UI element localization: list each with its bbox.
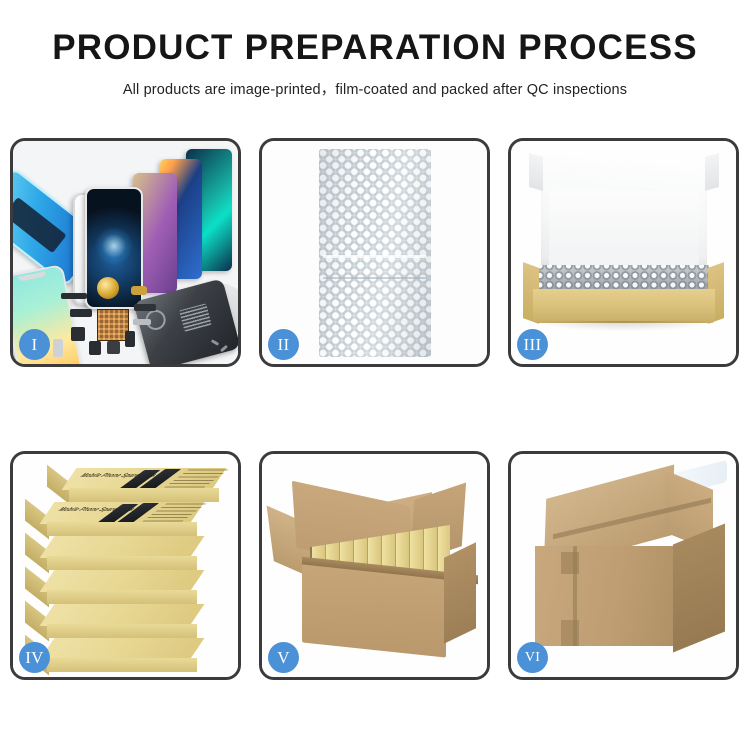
box-top-face: Mobile Phone Spare Parts	[40, 502, 205, 524]
retail-box-top-a: Mobile Phone Spare Parts	[69, 468, 219, 488]
step-card-1[interactable]: I	[10, 138, 241, 367]
photo-sealed-carton	[511, 454, 736, 677]
sealed-carton-front-face	[535, 546, 673, 646]
retail-box-4	[47, 570, 197, 590]
step-card-2[interactable]: II	[259, 138, 490, 367]
photo-products-and-parts	[13, 141, 238, 364]
box-top-face	[40, 638, 205, 660]
part-camera-module	[71, 327, 85, 341]
foam-sheet	[549, 191, 699, 269]
box-stack: Mobile Phone Spare Parts Mobile Phone Sp…	[17, 468, 237, 666]
sealed-carton-tab-top	[561, 552, 579, 574]
step-card-6[interactable]: VI	[508, 451, 739, 680]
retail-box-5	[47, 604, 197, 624]
step-badge-3: III	[517, 329, 548, 360]
product-preparation-infographic: PRODUCT PREPARATION PROCESS All products…	[0, 0, 750, 750]
retail-box-top-b: Mobile Phone Spare Parts	[47, 502, 197, 522]
box-top-face	[40, 604, 205, 626]
step-badge-4: IV	[19, 642, 50, 673]
bubble-seam-shadow	[323, 277, 427, 279]
part-bracket	[125, 331, 135, 347]
box-front-face	[47, 658, 197, 672]
part-vibrator	[89, 341, 101, 355]
photo-stacked-retail-boxes: Mobile Phone Spare Parts Mobile Phone Sp…	[13, 454, 238, 677]
retail-box-3	[47, 536, 197, 556]
step-badge-2: II	[268, 329, 299, 360]
part-speaker	[107, 341, 120, 354]
header: PRODUCT PREPARATION PROCESS All products…	[0, 0, 750, 99]
step-badge-1: I	[19, 329, 50, 360]
part-connector	[70, 309, 92, 317]
part-sim-tray	[53, 339, 63, 357]
photo-inner-box-packing	[511, 141, 736, 364]
sealed-carton-right-face	[673, 523, 725, 652]
box-front-face	[47, 556, 197, 570]
photo-carton-loading	[262, 454, 487, 677]
step-card-3[interactable]: III	[508, 138, 739, 367]
box-front-face	[69, 488, 219, 502]
speaker-mesh-part	[97, 277, 119, 299]
box-front-face	[47, 590, 197, 604]
bubble-shading	[319, 149, 431, 357]
page-title: PRODUCT PREPARATION PROCESS	[0, 30, 750, 67]
part-gold-flex	[131, 286, 147, 295]
mailer-box-front	[533, 289, 715, 323]
screws-group	[211, 337, 233, 355]
page-subtitle: All products are image-printed，film-coat…	[0, 78, 750, 99]
drop-shadow	[535, 321, 713, 331]
box-front-face	[47, 624, 197, 638]
step-badge-6: VI	[517, 642, 548, 673]
bubble-seam-highlight	[323, 255, 427, 258]
step-card-5[interactable]: V	[259, 451, 490, 680]
bubble-wrapped-item	[319, 149, 431, 357]
bubble-wrapped-contents	[539, 265, 709, 291]
box-top-face	[40, 536, 205, 558]
carton-front-face	[302, 564, 446, 657]
box-top-face	[40, 570, 205, 592]
carton-right-face	[444, 542, 476, 644]
photo-bubble-wrap	[262, 141, 487, 364]
sealed-carton-tab-bottom	[561, 620, 579, 646]
part-flex-cable	[134, 304, 156, 311]
box-front-face	[47, 522, 197, 536]
step-card-4[interactable]: Mobile Phone Spare Parts Mobile Phone Sp…	[10, 451, 241, 680]
box-top-face: Mobile Phone Spare Parts	[62, 468, 227, 490]
step-badge-5: V	[268, 642, 299, 673]
retail-box-6	[47, 638, 197, 658]
part-strip	[61, 293, 87, 299]
process-steps-grid: I II	[10, 138, 740, 680]
part-antenna	[133, 319, 151, 325]
